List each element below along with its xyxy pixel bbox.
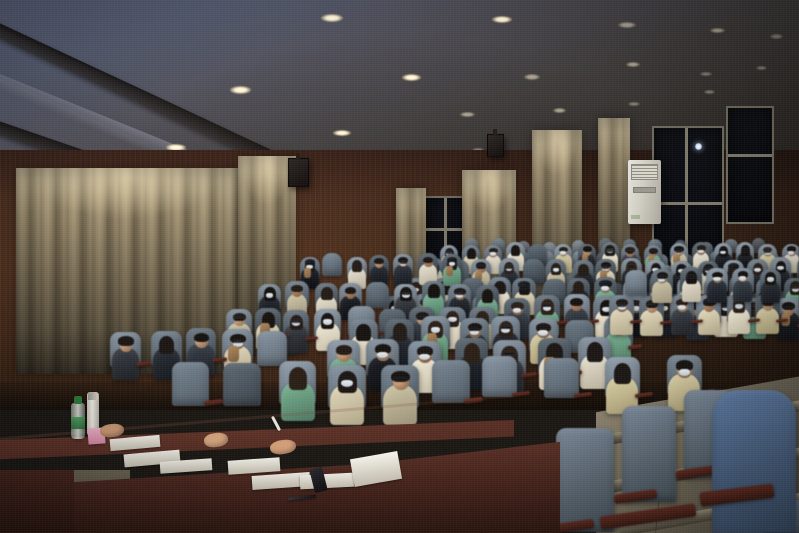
downlight <box>710 28 725 33</box>
audience-member <box>758 298 779 333</box>
beanie-hat <box>305 259 316 265</box>
eyeglasses <box>764 250 770 253</box>
eyeglasses <box>501 326 511 329</box>
audience-torso <box>733 280 752 303</box>
audience-hair <box>356 324 370 341</box>
eyeglasses <box>456 292 464 295</box>
auditorium-seat <box>625 270 647 295</box>
downlight <box>460 112 475 117</box>
downlight <box>321 14 343 22</box>
downlight <box>492 16 512 23</box>
audience-hair <box>345 287 357 294</box>
bottle-cap <box>74 396 82 404</box>
audience-member <box>286 314 308 351</box>
downlight <box>553 108 566 113</box>
auditorium-seat <box>622 406 676 502</box>
audience-member <box>395 257 412 285</box>
auditorium-seat <box>322 253 342 276</box>
auditorium-seat <box>482 356 517 396</box>
audience-hair <box>614 363 632 384</box>
audience-hair <box>159 336 174 354</box>
audience-hair <box>352 260 362 272</box>
eyeglasses <box>232 340 243 343</box>
audience-member <box>672 299 693 334</box>
audience-hair <box>118 336 133 345</box>
auditorium-seat <box>366 282 389 309</box>
eyeglasses <box>784 307 793 310</box>
face-mask <box>679 369 690 376</box>
audience-torso <box>394 265 412 286</box>
eyeglasses <box>542 304 551 307</box>
audience-member <box>683 270 701 300</box>
audience-hair <box>587 342 603 362</box>
eyeglasses <box>676 250 682 253</box>
seat-armrest <box>136 361 152 367</box>
face-mask <box>323 319 332 324</box>
audience-hair <box>583 246 592 252</box>
downlight <box>628 102 640 106</box>
eyeglasses <box>520 286 528 289</box>
scarf <box>304 268 311 278</box>
seat-armrest <box>520 372 537 378</box>
audience-member <box>385 370 417 423</box>
eyeglasses <box>627 251 633 254</box>
scarf <box>446 266 453 276</box>
eyeglasses <box>469 328 479 331</box>
face-mask <box>754 268 761 272</box>
auditorium-photograph <box>0 0 799 533</box>
eyeglasses <box>234 318 243 321</box>
seat-armrest <box>628 345 643 350</box>
audience-torso <box>671 309 693 335</box>
wall-speaker <box>487 134 504 157</box>
audience-torso <box>707 280 726 303</box>
face-mask <box>266 293 274 298</box>
table-end-panel <box>0 470 74 532</box>
audience-hair <box>374 258 384 264</box>
eyeglasses <box>617 304 626 307</box>
eyeglasses <box>477 266 484 269</box>
face-mask <box>560 251 566 255</box>
audience-hair <box>428 284 440 298</box>
eyeglasses <box>658 276 666 279</box>
ac-vent <box>633 187 657 193</box>
window-light-reflection <box>695 143 702 150</box>
audience-hair <box>511 245 520 256</box>
audience-hair <box>464 343 480 363</box>
downlight <box>704 90 715 94</box>
eyeglasses <box>602 266 609 269</box>
audience-hair <box>336 345 352 355</box>
auditorium-seat <box>223 363 261 406</box>
speaker-bracket <box>296 153 300 160</box>
audience-hair <box>194 333 209 342</box>
downlight <box>618 22 636 28</box>
downlight <box>626 62 640 67</box>
window-mullion-horizontal <box>728 154 772 157</box>
audience-member <box>642 300 663 335</box>
downlight <box>770 34 783 39</box>
foreground-seat <box>712 390 796 533</box>
audience-hair <box>467 248 476 259</box>
audience-member <box>608 363 638 412</box>
face-mask <box>739 276 746 280</box>
audience-member <box>332 370 364 423</box>
auditorium-seat <box>432 360 470 403</box>
downlight <box>756 66 767 70</box>
face-mask <box>713 277 720 281</box>
eyeglasses <box>503 352 514 355</box>
eyeglasses <box>791 286 799 289</box>
audience-hair <box>289 367 308 390</box>
downlight <box>524 74 540 80</box>
eyeglasses <box>402 292 410 295</box>
downlight <box>333 130 351 136</box>
audience-hair <box>570 298 583 306</box>
face-mask <box>735 304 743 309</box>
wall-speaker <box>288 158 309 187</box>
face-mask <box>601 286 609 291</box>
eyeglasses <box>687 275 695 278</box>
audience-member <box>114 336 140 379</box>
face-mask <box>767 277 774 281</box>
face-mask <box>678 305 686 310</box>
eyeglasses <box>400 261 407 264</box>
thermos-lid <box>88 392 99 400</box>
audience-member <box>612 299 633 334</box>
audience-member <box>729 298 750 333</box>
eyeglasses <box>647 305 656 308</box>
face-mask <box>788 251 794 255</box>
audience-hair <box>423 257 433 263</box>
audience-hair <box>578 264 588 276</box>
audience-hair <box>321 287 333 301</box>
eyeglasses <box>742 249 748 252</box>
eyeglasses <box>292 320 301 323</box>
downlight <box>230 86 251 94</box>
seat-armrest <box>203 399 222 406</box>
audience-member <box>653 272 671 302</box>
scarf <box>228 346 239 361</box>
speaker-bracket <box>493 129 497 136</box>
audience-hair <box>482 289 494 303</box>
bottle-label <box>71 417 85 429</box>
audience-hair <box>291 285 303 292</box>
auditorium-seat <box>544 358 579 398</box>
auditorium-seat <box>172 362 210 405</box>
water-bottle <box>71 403 85 439</box>
audience-member <box>699 299 720 334</box>
audience-member <box>444 257 461 285</box>
audience-torso <box>652 281 671 304</box>
face-mask <box>777 266 784 270</box>
face-mask <box>538 330 547 336</box>
eyeglasses <box>394 378 407 381</box>
audience-member <box>708 271 726 301</box>
audience-member <box>762 272 780 302</box>
auditorium-seat <box>257 331 287 366</box>
ac-grille <box>631 164 659 181</box>
audience-hair <box>393 323 407 340</box>
downlight <box>700 72 712 76</box>
seat-armrest <box>573 392 591 399</box>
eyeglasses <box>505 266 512 269</box>
audience-member <box>734 271 752 301</box>
eyeglasses <box>628 265 635 268</box>
eyeglasses <box>607 249 613 252</box>
downlight <box>402 74 421 81</box>
seat-armrest <box>600 503 697 529</box>
